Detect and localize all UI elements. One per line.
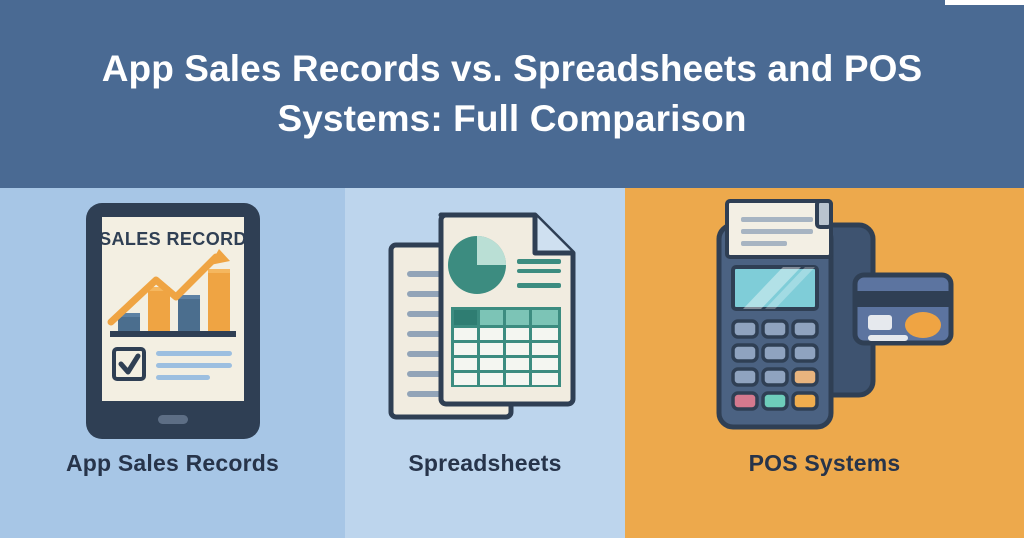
top-right-notch (945, 0, 1024, 5)
panel-spreadsheets[interactable]: Spreadsheets (345, 188, 625, 538)
comparison-panels: SALES RECORD (0, 188, 1024, 538)
documents-spreadsheet-icon (345, 188, 625, 456)
svg-text:SALES RECORD: SALES RECORD (99, 229, 247, 249)
tablet-sales-record-icon: SALES RECORD (0, 188, 345, 456)
panel-app-sales-records[interactable]: SALES RECORD (0, 188, 345, 538)
header-banner: App Sales Records vs. Spreadsheets and P… (0, 0, 1024, 188)
panel-pos-systems[interactable]: POS Systems (625, 188, 1024, 538)
page-title: App Sales Records vs. Spreadsheets and P… (82, 44, 942, 144)
pos-terminal-card-icon (625, 188, 1024, 456)
infographic-page: App Sales Records vs. Spreadsheets and P… (0, 0, 1024, 538)
